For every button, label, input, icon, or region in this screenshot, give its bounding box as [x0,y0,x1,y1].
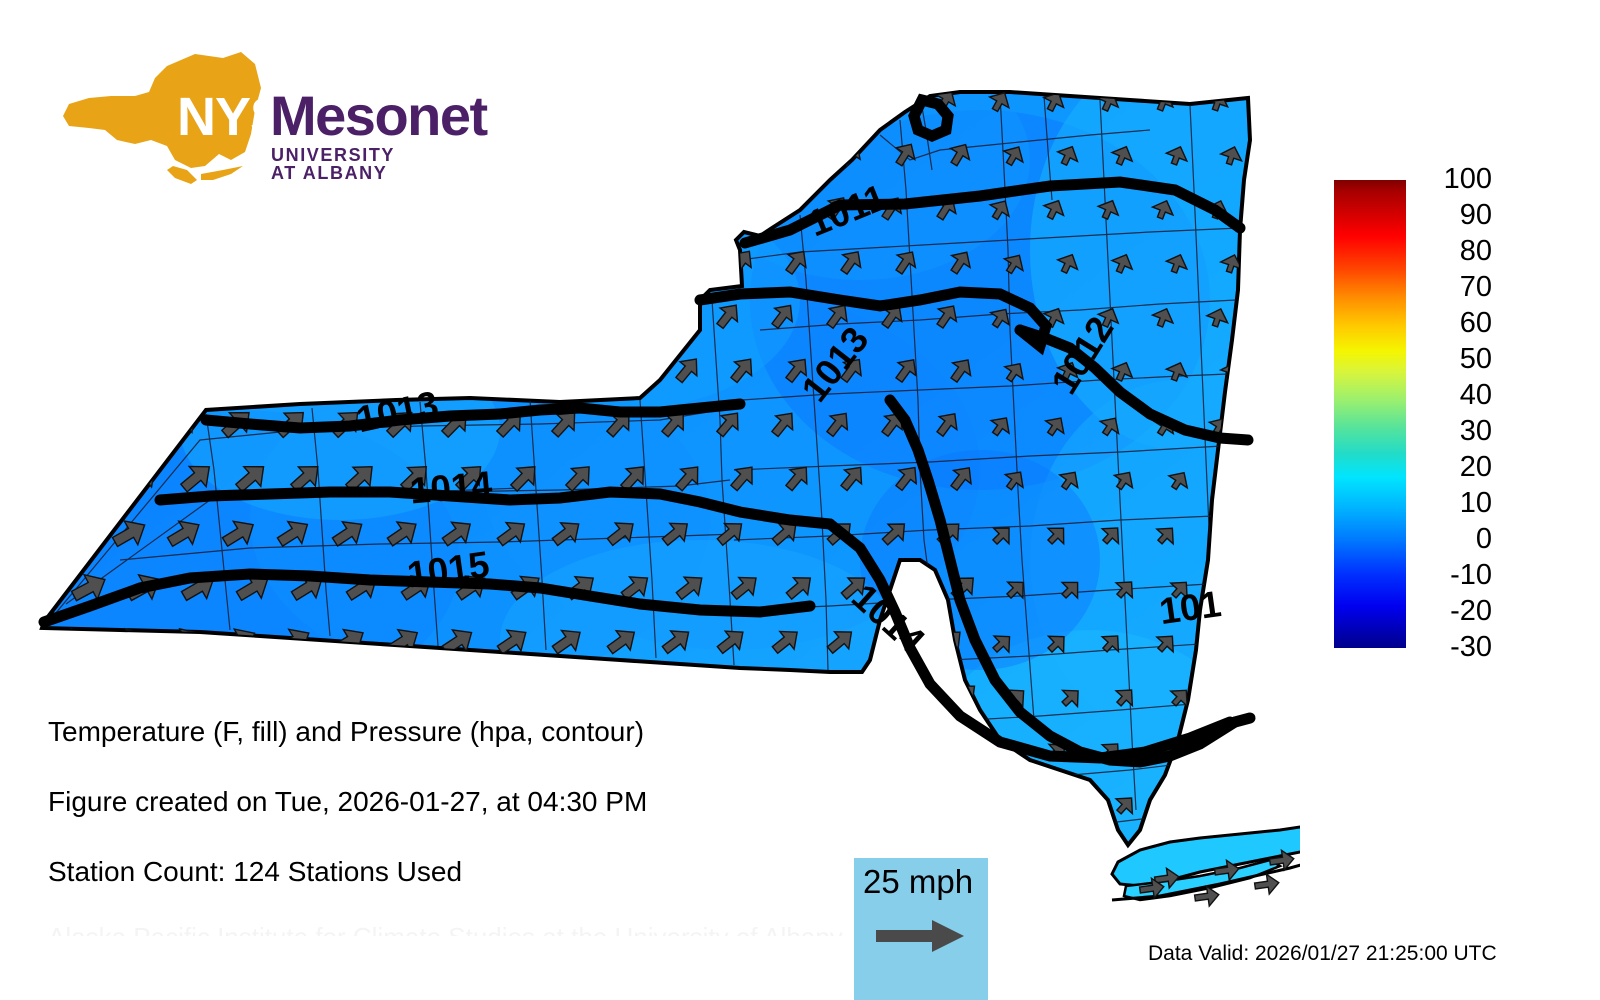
wind-arrow [656,298,690,333]
wind-arrow [51,294,93,335]
wind-arrow [1043,845,1072,874]
colorbar-tick-90: 90 [1460,201,1492,230]
wind-arrow [285,134,322,171]
wind-arrow [821,84,852,116]
wind-arrow [561,244,595,279]
wind-arrow [436,82,470,117]
wind-arrow [66,456,110,499]
wind-arrow [120,349,162,390]
wind-arrow [120,241,161,281]
wind-arrow [491,82,525,117]
wind-arrow-icon [876,916,970,956]
caption-station-count: Station Count: 124 Stations Used [48,858,808,886]
wind-arrow [123,675,167,716]
wind-arrow [562,676,602,714]
wind-arrow [436,189,471,225]
colorbar-tick-labels: 1009080706050403020100-10-20-30 [1412,157,1492,677]
colorbar-tick--30: -30 [1450,633,1492,662]
wind-arrow [1002,791,1031,820]
wind-arrow [51,79,91,119]
wind-arrow [1220,467,1248,494]
wind-arrow [106,187,146,227]
colorbar-tick-20: 20 [1460,453,1492,482]
wind-arrow [766,84,797,116]
wind-arrow [216,188,255,227]
wind-arrow [878,731,914,766]
wind-arrow [342,676,384,716]
wind-arrow [326,81,362,117]
wind-arrow [711,191,744,224]
wind-arrow [933,732,968,767]
wind-arrow [230,349,270,389]
wind-arrow [285,242,323,280]
colorbar-gradient [1334,180,1406,648]
wind-arrow [450,243,486,279]
wind-arrow [782,677,819,713]
wind-arrow [436,297,473,334]
wind-arrow [1207,629,1235,657]
wind-arrow [230,134,268,172]
wind-arrow [216,295,256,335]
wind-arrow [615,244,649,279]
caption-title: Temperature (F, fill) and Pressure (hpa,… [48,718,808,746]
wind-arrow [161,295,202,335]
wind-arrow [602,298,636,333]
wind-arrow [507,676,547,714]
weather-map-figure: NYS Mesonet UNIVERSITY AT ALBANY [0,0,1600,1000]
colorbar-tick--20: -20 [1450,597,1492,626]
temperature-colorbar [1334,180,1406,648]
wind-arrow [395,243,432,280]
wind-arrow [601,83,634,117]
wind-speed-legend: 25 mph [854,858,988,1000]
wind-arrow [340,242,377,280]
colorbar-tick-100: 100 [1444,165,1492,194]
wind-arrow [546,82,579,116]
wind-arrow [326,188,363,225]
wind-arrow [65,133,105,173]
wind-arrow [546,190,580,225]
contour-label-1014: 1014 [408,464,494,512]
wind-arrow [1057,791,1086,820]
wind-arrow [547,298,582,334]
wind-arrow [561,351,597,387]
wind-arrow [450,351,487,388]
wind-arrow [672,677,710,714]
wind-arrow [505,351,541,388]
wind-arrow [876,85,907,116]
contour-label-101: 101 [1157,583,1224,632]
wind-arrow [161,80,199,118]
wind-arrow [725,137,757,170]
wind-arrow [395,135,430,171]
wind-arrow [216,80,253,118]
wind-arrow [601,190,635,224]
wind-arrow [711,84,743,117]
wind-arrow [326,296,364,334]
wind-arrow [381,189,417,226]
colorbar-tick-50: 50 [1460,345,1492,374]
wind-arrow [505,243,540,279]
wind-arrow [491,190,526,225]
wind-arrow [837,785,874,821]
wind-arrow [381,81,416,117]
wind-arrow [1166,791,1195,819]
wind-arrow [175,349,216,390]
colorbar-tick--10: -10 [1450,561,1492,590]
wind-arrow [892,678,927,713]
wind-arrow [68,675,113,717]
wind-arrow [106,402,149,444]
wind-arrow [1221,575,1249,603]
data-valid-timestamp: Data Valid: 2026/01/27 21:25:00 UTC [1148,942,1497,966]
contour-1011-east [1235,718,1250,722]
wind-arrow [823,731,860,767]
colorbar-tick-40: 40 [1460,381,1492,410]
wind-arrow [505,136,539,171]
wind-arrow [287,676,330,716]
wind-arrow [232,675,275,716]
wind-arrow [670,244,703,278]
caption-created: Figure created on Tue, 2026-01-27, at 04… [48,788,808,816]
colorbar-tick-80: 80 [1460,237,1492,266]
wind-arrow [161,187,200,226]
wind-arrow [177,675,221,716]
wind-arrow [381,296,419,334]
colorbar-tick-0: 0 [1476,525,1492,554]
wind-arrow [670,137,703,170]
wind-arrow [780,138,812,170]
wind-arrow [65,348,108,390]
wind-arrow [120,133,159,172]
wind-arrow [617,676,656,713]
wind-arrow [65,241,106,282]
wind-arrow [988,845,1017,875]
wind-arrow [340,135,376,172]
colorbar-tick-70: 70 [1460,273,1492,302]
colorbar-tick-30: 30 [1460,417,1492,446]
wind-arrow [106,295,147,336]
wind-arrow [656,83,688,116]
wind-arrow [271,296,310,335]
wind-arrow [727,677,765,713]
colorbar-tick-10: 10 [1460,489,1492,518]
wind-arrow [53,513,97,554]
wind-arrow [560,136,594,170]
colorbar-tick-60: 60 [1460,309,1492,338]
wind-arrow [271,81,307,118]
wind-arrow [230,242,269,281]
wind-legend-label: 25 mph [863,865,973,898]
wind-arrow [491,297,527,333]
wind-arrow [106,80,145,119]
wind-arrow [656,191,689,225]
wind-arrow [285,350,325,389]
wind-arrow [175,241,215,281]
wind-arrow [395,350,433,388]
wind-arrow [271,188,309,226]
wind-arrow [615,137,648,171]
wind-arrow [51,187,92,228]
wind-arrow [837,677,873,712]
wind-arrow [1221,791,1249,819]
wind-arrow [450,136,485,171]
wind-arrow [175,134,214,173]
wind-arrow [397,676,438,715]
wind-arrow [892,785,929,821]
wind-arrow [52,402,95,444]
figure-caption: Temperature (F, fill) and Pressure (hpa,… [48,718,808,928]
wind-arrow [452,676,493,715]
wind-arrow [1221,683,1249,711]
wind-arrow [616,352,651,387]
wind-arrow [340,350,379,389]
wind-arrow [947,786,983,821]
